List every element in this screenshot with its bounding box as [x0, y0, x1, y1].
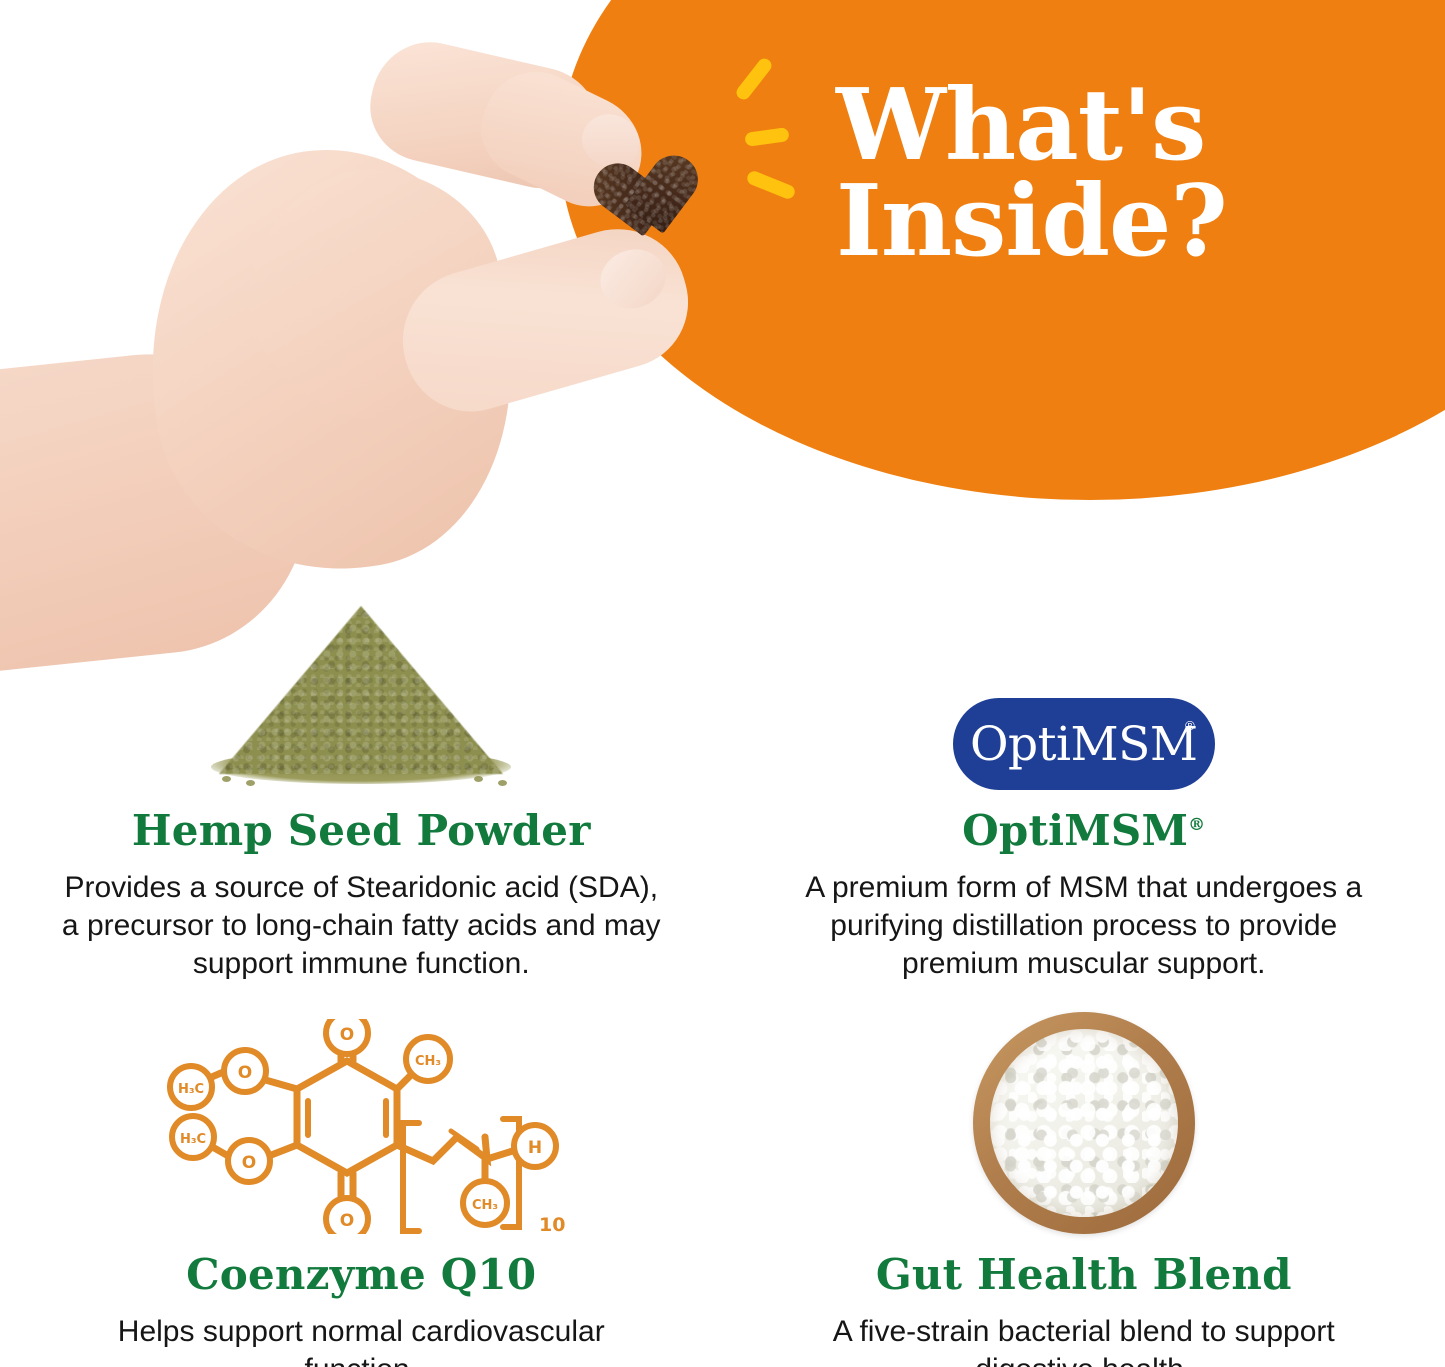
molecule-label-o-upper-left: O: [238, 1063, 252, 1083]
ingredient-title-optimsm: OptiMSM®: [962, 806, 1205, 855]
ingredient-title-coenzyme-q10: Coenzyme Q10: [186, 1250, 536, 1299]
hero-banner: What's Inside?: [0, 0, 1445, 540]
optimsm-logo-text: OptiMSM: [970, 721, 1197, 768]
powder-crumb: [222, 776, 231, 782]
ingredient-description-optimsm: A premium form of MSM that undergoes a p…: [784, 869, 1384, 982]
sparkle-ray-icon: [744, 127, 790, 147]
bowl-powder-fill: [990, 1029, 1178, 1217]
coq10-molecule-diagram-icon: O O O O H₃C H₃C CH₃ CH₃ H 10: [151, 1019, 571, 1234]
registered-mark: ®: [1188, 815, 1205, 835]
white-powder-bowl-icon: [973, 1012, 1195, 1234]
molecule-label-h3c-upper: H₃C: [178, 1082, 204, 1097]
sparkle-ray-icon: [734, 56, 775, 102]
powder-crumb: [498, 780, 507, 786]
sparkle-rays-group: [700, 60, 840, 240]
molecule-label-o-lower-left: O: [242, 1153, 256, 1173]
optimsm-visual: OptiMSM ®: [763, 560, 1406, 790]
molecule-label-h3c-lower: H₃C: [180, 1132, 206, 1147]
coq10-visual: O O O O H₃C H₃C CH₃ CH₃ H 10: [40, 1004, 683, 1234]
molecule-label-ch3-chain: CH₃: [472, 1198, 498, 1213]
sparkle-ray-icon: [745, 169, 797, 201]
ingredient-card-hemp-seed-powder: Hemp Seed Powder Provides a source of St…: [0, 560, 723, 982]
ingredient-description-coenzyme-q10: Helps support normal cardiovascular func…: [61, 1313, 661, 1367]
infographic-page: What's Inside?: [0, 0, 1445, 1367]
molecule-label-repeat-count: 10: [539, 1214, 565, 1234]
ingredient-grid: Hemp Seed Powder Provides a source of St…: [0, 560, 1445, 1367]
page-title-line-2: Inside?: [836, 174, 1436, 270]
ingredient-title-gut-health-blend: Gut Health Blend: [876, 1250, 1292, 1299]
molecule-label-ch3-ring: CH₃: [415, 1054, 441, 1069]
hemp-powder-pile-icon: [206, 605, 516, 790]
hand-holding-treat-illustration: [0, 0, 700, 640]
ingredient-title-optimsm-text: OptiMSM: [962, 806, 1188, 855]
ingredient-card-gut-health-blend: Gut Health Blend A five-strain bacterial…: [723, 1004, 1445, 1367]
powder-crumb: [474, 776, 483, 782]
ingredient-description-gut-health-blend: A five-strain bacterial blend to support…: [784, 1313, 1384, 1367]
optimsm-logo-registered-mark: ®: [1185, 718, 1195, 733]
molecule-label-h-end: H: [528, 1138, 542, 1158]
molecule-label-o-bottom: O: [340, 1211, 354, 1231]
page-title: What's Inside?: [836, 78, 1436, 270]
optimsm-logo-badge: OptiMSM ®: [953, 698, 1215, 790]
gut-health-visual: [763, 1004, 1406, 1234]
hemp-powder-visual: [40, 560, 683, 790]
ingredient-description-hemp-seed-powder: Provides a source of Stearidonic acid (S…: [61, 869, 661, 982]
molecule-label-o-top: O: [340, 1025, 354, 1045]
ingredient-title-hemp-seed-powder: Hemp Seed Powder: [132, 806, 591, 855]
ingredient-card-coenzyme-q10: O O O O H₃C H₃C CH₃ CH₃ H 10 Coenzyme Q1…: [0, 1004, 723, 1367]
ingredient-card-optimsm: OptiMSM ® OptiMSM® A premium form of MSM…: [723, 560, 1445, 982]
powder-crumb: [246, 780, 255, 786]
